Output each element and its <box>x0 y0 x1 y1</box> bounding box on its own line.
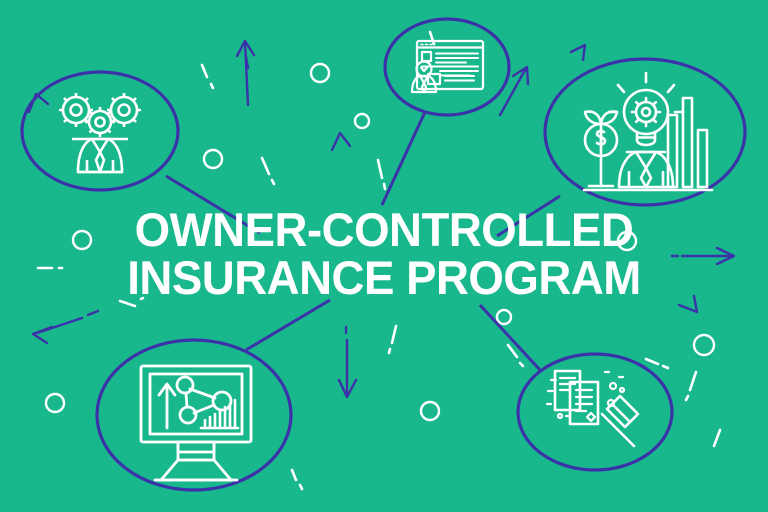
person-tie <box>422 83 426 92</box>
bar-chart-icon <box>668 98 707 187</box>
person-face <box>421 68 427 72</box>
documents-wand-icon <box>547 371 638 446</box>
network-graph-icon <box>177 377 231 423</box>
plant-leaf-left <box>585 112 601 124</box>
document-back-lines <box>560 378 575 390</box>
suit-lapel <box>92 139 108 152</box>
browser-thumb <box>422 52 431 61</box>
node-icons <box>0 0 768 512</box>
money-plant-icon <box>585 112 617 186</box>
monitor-base <box>161 460 231 480</box>
businessman-gears-icon <box>59 93 141 172</box>
document-front-lines <box>576 390 592 411</box>
suit-tie <box>96 152 104 172</box>
screen-bar-chart-icon <box>201 400 238 428</box>
wand-tip <box>612 404 630 422</box>
webpage-profile-icon <box>412 41 483 92</box>
lightbulb-gear-icon <box>609 73 683 145</box>
monitor-stand-neck <box>178 442 214 452</box>
suit-tie <box>641 168 651 187</box>
growth-arrow-icon <box>159 384 175 428</box>
monitor-screen <box>150 374 242 434</box>
suit-lapel <box>636 152 656 168</box>
business-growth-idea-icon <box>584 73 712 190</box>
plant-leaf-right <box>601 112 617 124</box>
suit-body <box>78 139 122 172</box>
gear-center-icon <box>85 107 115 137</box>
monitor-analytics-icon <box>141 366 251 480</box>
person-head <box>417 62 432 77</box>
gear-inside-bulb-icon <box>632 98 660 126</box>
profile-card-lines <box>445 76 474 81</box>
illustration-canvas: OWNER-CONTROLLED INSURANCE PROGRAM <box>0 0 768 512</box>
bulb-rays <box>609 73 683 112</box>
